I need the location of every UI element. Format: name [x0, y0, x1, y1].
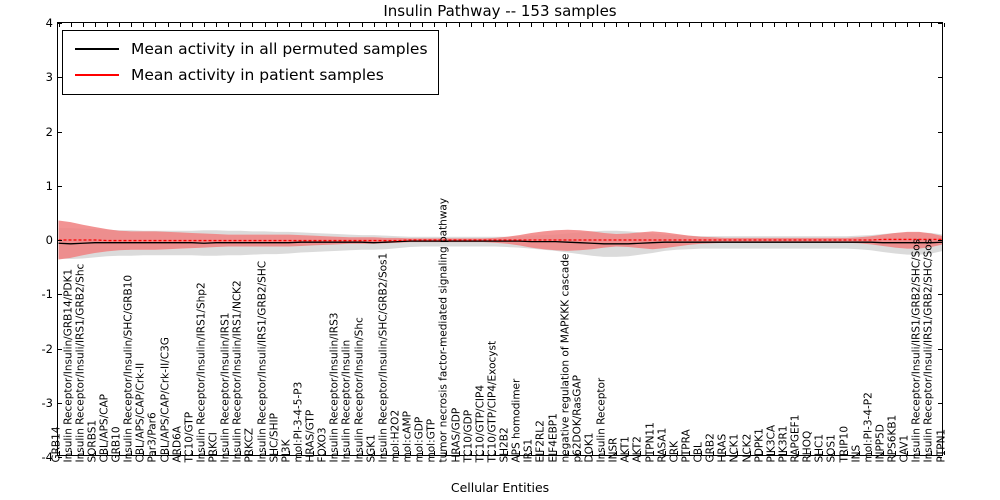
x-tick-mark: [313, 451, 314, 455]
x-tick-mark: [168, 451, 169, 455]
x-tick-mark: [386, 23, 387, 27]
x-tick-mark: [762, 23, 763, 27]
x-tick-mark: [216, 23, 217, 27]
x-tick-mark: [337, 451, 338, 455]
x-tick-mark: [107, 23, 108, 27]
x-tick-mark: [847, 451, 848, 455]
x-tick-mark: [83, 451, 84, 455]
y-tick-mark: [58, 403, 62, 404]
x-tick-mark: [677, 23, 678, 27]
x-tick-mark: [895, 23, 896, 27]
x-tick-mark: [277, 23, 278, 27]
x-tick-mark: [252, 23, 253, 27]
legend-label-permuted: Mean activity in all permuted samples: [131, 40, 428, 58]
x-tick-mark: [883, 451, 884, 455]
x-tick-mark: [919, 451, 920, 455]
x-tick-mark: [228, 451, 229, 455]
x-tick-mark: [834, 451, 835, 455]
y-tick-label: -1: [42, 287, 53, 301]
x-tick-mark: [653, 23, 654, 27]
x-tick-mark: [192, 23, 193, 27]
x-tick-mark: [762, 451, 763, 455]
legend-swatch-patient: [75, 74, 119, 76]
y-tick-mark: [938, 349, 942, 350]
x-tick-mark: [944, 23, 945, 27]
x-tick-mark: [289, 451, 290, 455]
x-tick-mark: [119, 23, 120, 27]
x-tick-mark: [446, 23, 447, 27]
x-tick-mark: [374, 451, 375, 455]
x-tick-mark: [919, 23, 920, 27]
x-tick-mark: [410, 451, 411, 455]
y-tick-label: 3: [46, 70, 53, 84]
x-tick-mark: [907, 451, 908, 455]
x-tick-mark: [155, 23, 156, 27]
x-tick-mark: [301, 451, 302, 455]
x-tick-mark: [556, 451, 557, 455]
x-tick-mark: [507, 451, 508, 455]
x-axis-label: Cellular Entities: [451, 480, 549, 495]
x-tick-mark: [483, 23, 484, 27]
x-tick-mark: [834, 23, 835, 27]
x-tick-mark: [204, 451, 205, 455]
x-tick-mark: [859, 451, 860, 455]
x-tick-mark: [810, 23, 811, 27]
x-tick-mark: [519, 23, 520, 27]
y-tick-label: -3: [42, 396, 53, 410]
x-tick-mark: [725, 451, 726, 455]
x-tick-mark: [204, 23, 205, 27]
x-tick-mark: [446, 451, 447, 455]
x-tick-mark: [568, 451, 569, 455]
y-tick-mark: [938, 240, 942, 241]
x-tick-mark: [543, 451, 544, 455]
x-tick-mark: [604, 451, 605, 455]
x-tick-mark: [701, 451, 702, 455]
y-tick-mark: [58, 240, 62, 241]
x-tick-mark: [519, 451, 520, 455]
x-tick-mark: [107, 451, 108, 455]
x-tick-mark: [240, 23, 241, 27]
x-tick-mark: [398, 23, 399, 27]
x-tick-mark: [871, 451, 872, 455]
x-tick-mark: [192, 451, 193, 455]
x-tick-mark: [737, 451, 738, 455]
x-tick-mark: [531, 23, 532, 27]
x-tick-mark: [774, 451, 775, 455]
x-tick-mark: [931, 451, 932, 455]
x-tick-mark: [786, 451, 787, 455]
legend-item-patient: Mean activity in patient samples: [71, 62, 428, 88]
x-tick-mark: [119, 451, 120, 455]
x-tick-mark: [495, 451, 496, 455]
x-tick-mark: [737, 23, 738, 27]
x-tick-mark: [313, 23, 314, 27]
x-tick-mark: [483, 451, 484, 455]
y-tick-label: -2: [42, 342, 53, 356]
y-tick-mark: [938, 132, 942, 133]
y-tick-mark: [938, 23, 942, 24]
x-tick-mark: [786, 23, 787, 27]
x-tick-mark: [604, 23, 605, 27]
x-tick-mark: [83, 23, 84, 27]
x-tick-mark: [459, 23, 460, 27]
x-tick-mark: [386, 451, 387, 455]
x-tick-mark: [422, 451, 423, 455]
legend-item-permuted: Mean activity in all permuted samples: [71, 36, 428, 62]
y-tick-mark: [58, 349, 62, 350]
x-tick-mark: [628, 451, 629, 455]
x-tick-mark: [180, 451, 181, 455]
x-tick-mark: [459, 451, 460, 455]
x-tick-mark: [689, 451, 690, 455]
x-tick-mark: [131, 451, 132, 455]
x-tick-mark: [883, 23, 884, 27]
y-tick-label: 2: [46, 125, 53, 139]
x-tick-mark: [59, 23, 60, 27]
chart-figure: Insulin Pathway -- 153 samples -4-3-2-10…: [0, 0, 1000, 500]
x-tick-mark: [677, 451, 678, 455]
legend-label-patient: Mean activity in patient samples: [131, 66, 384, 84]
y-tick-mark: [58, 457, 62, 458]
x-tick-mark: [277, 451, 278, 455]
x-tick-mark: [471, 23, 472, 27]
x-tick-mark: [180, 23, 181, 27]
x-tick-mark: [640, 23, 641, 27]
x-tick-mark: [907, 23, 908, 27]
x-tick-mark: [774, 23, 775, 27]
y-tick-mark: [938, 186, 942, 187]
x-tick-mark: [349, 23, 350, 27]
x-tick-mark: [944, 451, 945, 455]
x-tick-mark: [155, 451, 156, 455]
x-tick-mark: [95, 451, 96, 455]
chart-legend: Mean activity in all permuted samples Me…: [62, 30, 439, 95]
x-tick-mark: [95, 23, 96, 27]
x-tick-mark: [750, 451, 751, 455]
y-tick-mark: [58, 294, 62, 295]
x-tick-mark: [362, 451, 363, 455]
y-tick-mark: [938, 294, 942, 295]
x-tick-mark: [216, 451, 217, 455]
x-tick-mark: [325, 451, 326, 455]
x-tick-mark: [59, 451, 60, 455]
x-tick-mark: [507, 23, 508, 27]
x-tick-mark: [628, 23, 629, 27]
x-tick-mark: [410, 23, 411, 27]
x-tick-mark: [252, 451, 253, 455]
x-tick-mark: [349, 451, 350, 455]
x-tick-mark: [580, 23, 581, 27]
x-tick-mark: [592, 451, 593, 455]
x-tick-mark: [713, 23, 714, 27]
x-tick-mark: [931, 23, 932, 27]
x-tick-mark: [240, 451, 241, 455]
x-tick-mark: [847, 23, 848, 27]
x-tick-mark: [131, 23, 132, 27]
x-tick-mark: [228, 23, 229, 27]
x-tick-mark: [810, 451, 811, 455]
x-tick-mark: [798, 451, 799, 455]
x-tick-mark: [374, 23, 375, 27]
x-tick-mark: [265, 23, 266, 27]
x-tick-mark: [301, 23, 302, 27]
x-tick-mark: [434, 451, 435, 455]
y-tick-mark: [938, 457, 942, 458]
x-tick-mark: [543, 23, 544, 27]
x-tick-mark: [640, 451, 641, 455]
x-tick-mark: [71, 451, 72, 455]
x-tick-mark: [616, 451, 617, 455]
y-tick-label: -4: [42, 450, 53, 464]
x-tick-mark: [434, 23, 435, 27]
y-tick-label: 4: [46, 16, 53, 30]
x-tick-mark: [822, 23, 823, 27]
x-tick-mark: [325, 23, 326, 27]
x-tick-mark: [71, 23, 72, 27]
y-tick-label: 0: [46, 233, 53, 247]
y-tick-mark: [58, 186, 62, 187]
x-tick-mark: [580, 451, 581, 455]
y-tick-mark: [938, 77, 942, 78]
x-tick-mark: [168, 23, 169, 27]
y-tick-mark: [58, 132, 62, 133]
x-tick-mark: [422, 23, 423, 27]
x-tick-mark: [822, 451, 823, 455]
x-tick-mark: [895, 451, 896, 455]
chart-title: Insulin Pathway -- 153 samples: [0, 2, 1000, 20]
x-tick-mark: [398, 451, 399, 455]
x-tick-mark: [859, 23, 860, 27]
x-tick-mark: [798, 23, 799, 27]
x-tick-mark: [616, 23, 617, 27]
x-tick-mark: [265, 451, 266, 455]
legend-swatch-permuted: [75, 48, 119, 50]
x-tick-mark: [713, 451, 714, 455]
x-tick-mark: [701, 23, 702, 27]
x-tick-mark: [689, 23, 690, 27]
x-tick-mark: [531, 451, 532, 455]
x-tick-mark: [665, 451, 666, 455]
x-tick-mark: [143, 451, 144, 455]
x-tick-mark: [592, 23, 593, 27]
y-tick-label: 1: [46, 179, 53, 193]
x-tick-mark: [568, 23, 569, 27]
x-tick-mark: [362, 23, 363, 27]
x-tick-mark: [289, 23, 290, 27]
x-tick-mark: [337, 23, 338, 27]
x-tick-mark: [471, 451, 472, 455]
x-tick-mark: [665, 23, 666, 27]
x-tick-mark: [871, 23, 872, 27]
x-tick-mark: [556, 23, 557, 27]
x-tick-mark: [725, 23, 726, 27]
y-tick-mark: [938, 403, 942, 404]
x-tick-mark: [495, 23, 496, 27]
x-tick-mark: [143, 23, 144, 27]
x-tick-mark: [653, 451, 654, 455]
x-tick-mark: [750, 23, 751, 27]
